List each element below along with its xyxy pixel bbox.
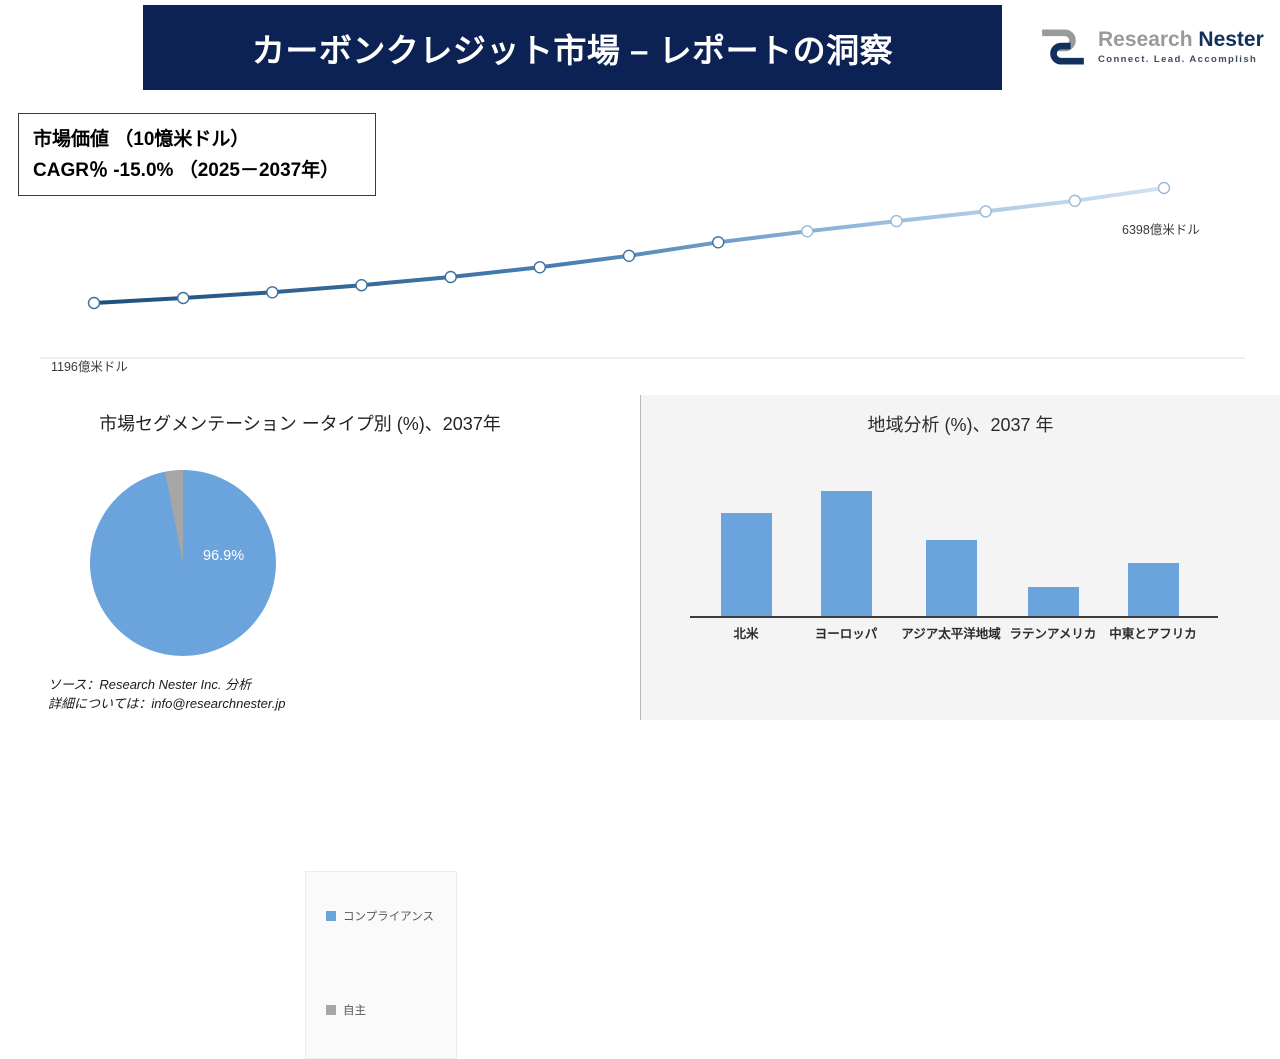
data-point-marker — [267, 287, 278, 298]
legend-label-compliance: コンプライアンス — [343, 908, 434, 924]
data-point-marker — [1159, 183, 1170, 194]
brand-tagline: Connect. Lead. Accomplish — [1098, 54, 1264, 65]
source-line-1: ソース：Research Nester Inc. 分析 — [48, 676, 285, 695]
bar-2 — [821, 491, 872, 616]
bar-category-label: 中東とアフリカ — [1109, 623, 1197, 642]
pie-legend: コンプライアンス 自主 — [305, 871, 457, 1059]
bar-category-label: アジア太平洋地域 — [901, 623, 1001, 642]
legend-item-compliance: コンプライアンス — [326, 908, 434, 924]
pie-svg — [88, 468, 278, 658]
bar-axis-line — [690, 616, 1218, 618]
data-point-marker — [624, 250, 635, 261]
pie-percentage-label: 96.9% — [203, 548, 244, 564]
bar-category-label: ヨーロッパ — [815, 623, 878, 642]
brand-text: Research Nester Connect. Lead. Accomplis… — [1098, 29, 1264, 64]
page-title: カーボンクレジット市場 – レポートの洞察 — [252, 24, 893, 72]
bar-5 — [1128, 563, 1179, 616]
bar-3 — [926, 540, 977, 616]
value-line — [94, 188, 1164, 303]
data-point-marker — [713, 237, 724, 248]
data-point-marker — [980, 206, 991, 217]
data-point-marker — [1069, 195, 1080, 206]
market-value-line-chart: 1196億米ドル 6398億米ドル 2024年2025年2026年2027年20… — [0, 100, 1280, 390]
legend-swatch-voluntary — [326, 1005, 336, 1015]
bar-1 — [721, 513, 772, 616]
bar-category-label: 北米 — [733, 623, 758, 642]
data-point-marker — [445, 272, 456, 283]
segmentation-panel: 市場セグメンテーション ータイプ別 (%)、2037年 96.9% コンプライア… — [0, 395, 640, 720]
end-value-label: 6398億米ドル — [1122, 219, 1200, 238]
data-point-marker — [178, 293, 189, 304]
bar-category-label: ラテンアメリカ — [1010, 623, 1097, 642]
segmentation-title: 市場セグメンテーション ータイプ別 (%)、2037年 — [0, 410, 600, 436]
data-point-marker — [89, 298, 100, 309]
brand-name: Research Nester — [1098, 29, 1264, 51]
source-note: ソース：Research Nester Inc. 分析 詳細については：info… — [48, 676, 285, 714]
legend-swatch-compliance — [326, 911, 336, 921]
regional-panel: 地域分析 (%)、2037 年 74.2% 北米ヨーロッパアジア太平洋地域ラテン… — [641, 395, 1280, 720]
legend-item-voluntary: 自主 — [326, 1002, 366, 1018]
value-markers — [89, 183, 1170, 309]
data-point-marker — [802, 226, 813, 237]
segmentation-pie-chart: 96.9% — [88, 468, 278, 658]
regional-bar-chart: 74.2% 北米ヨーロッパアジア太平洋地域ラテンアメリカ中東とアフリカ — [641, 395, 1280, 720]
brand-logo: Research Nester Connect. Lead. Accomplis… — [1036, 18, 1266, 76]
line-chart-svg — [0, 100, 1280, 390]
source-line-2: 詳細については：info@researchnester.jp — [48, 695, 285, 714]
header-banner: カーボンクレジット市場 – レポートの洞察 — [143, 5, 1002, 90]
start-value-label: 1196億米ドル — [51, 356, 128, 375]
research-nester-mark-icon — [1036, 29, 1090, 65]
data-point-marker — [891, 216, 902, 227]
data-point-marker — [356, 280, 367, 291]
data-point-marker — [534, 262, 545, 273]
brand-name-nester: Nester — [1198, 28, 1263, 51]
legend-label-voluntary: 自主 — [343, 1002, 366, 1018]
brand-name-research: Research — [1098, 28, 1193, 51]
bar-4 — [1028, 587, 1079, 616]
